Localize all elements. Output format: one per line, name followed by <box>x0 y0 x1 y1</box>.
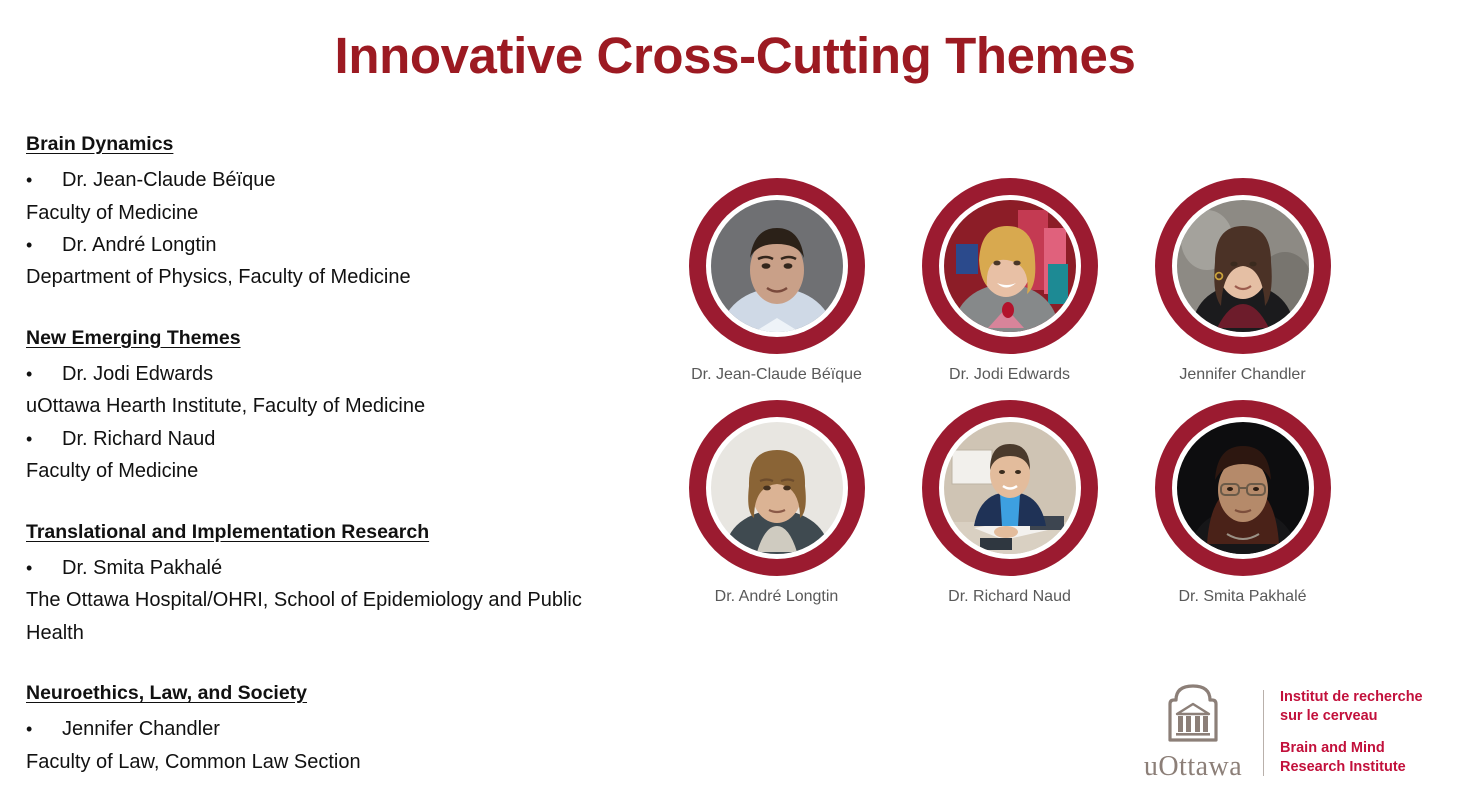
person-entry: • Dr. Smita Pakhalé <box>26 552 646 584</box>
person-name: Dr. Jean-Claude Béïque <box>62 164 275 196</box>
portrait-ring <box>1155 178 1331 354</box>
bullet-icon: • <box>26 166 62 195</box>
portrait-cell: Dr. Smita Pakhalé <box>1126 400 1359 606</box>
person-entry: • Dr. Jean-Claude Béïque <box>26 164 646 196</box>
portrait-jean-claude-beique <box>711 200 843 332</box>
portrait-inner-gap <box>939 417 1081 559</box>
person-affiliation: Faculty of Medicine <box>26 197 616 229</box>
theme-heading: Translational and Implementation Researc… <box>26 518 646 546</box>
portrait-smita-pakhale <box>1177 422 1309 554</box>
bullet-icon: • <box>26 425 62 454</box>
bullet-icon: • <box>26 554 62 583</box>
uottawa-wordmark: uOttawa <box>1144 751 1242 783</box>
portrait-inner-gap <box>706 195 848 337</box>
theme-block-translational-implementation-research: Translational and Implementation Researc… <box>26 518 646 649</box>
bullet-icon: • <box>26 231 62 260</box>
theme-heading: New Emerging Themes <box>26 324 646 352</box>
portrait-cell: Dr. Jean-Claude Béïque <box>660 178 893 384</box>
person-name: Dr. André Longtin <box>62 229 217 261</box>
institute-fr-line1: Institut de recherche <box>1280 688 1423 707</box>
portrait-cell: Dr. Richard Naud <box>893 400 1126 606</box>
person-name: Dr. Smita Pakhalé <box>62 552 222 584</box>
person-name: Dr. Richard Naud <box>62 423 215 455</box>
portrait-ring <box>1155 400 1331 576</box>
person-affiliation: uOttawa Hearth Institute, Faculty of Med… <box>26 390 616 422</box>
portrait-inner-gap <box>939 195 1081 337</box>
theme-block-brain-dynamics: Brain Dynamics • Dr. Jean-Claude Béïque … <box>26 130 646 294</box>
person-entry: • Dr. Jodi Edwards <box>26 358 646 390</box>
logo-divider <box>1263 690 1264 776</box>
portrait-inner-gap <box>1172 195 1314 337</box>
theme-block-neuroethics-law-society: Neuroethics, Law, and Society • Jennifer… <box>26 679 646 778</box>
portrait-row: Dr. Jean-Claude Béïque <box>660 178 1360 384</box>
person-entry: • Jennifer Chandler <box>26 713 646 745</box>
portrait-richard-naud <box>944 422 1076 554</box>
portrait-ring <box>922 178 1098 354</box>
bullet-icon: • <box>26 715 62 744</box>
institute-en-line2: Research Institute <box>1280 758 1423 777</box>
portrait-andre-longtin <box>711 422 843 554</box>
person-affiliation: Department of Physics, Faculty of Medici… <box>26 261 616 293</box>
presentation-slide: Innovative Cross-Cutting Themes Brain Dy… <box>0 0 1470 808</box>
portrait-cell: Jennifer Chandler <box>1126 178 1359 384</box>
person-affiliation: Faculty of Medicine <box>26 455 616 487</box>
bullet-icon: • <box>26 360 62 389</box>
theme-heading: Brain Dynamics <box>26 130 646 158</box>
person-entry: • Dr. André Longtin <box>26 229 646 261</box>
uottawa-shield-icon <box>1164 682 1222 749</box>
portrait-grid: Dr. Jean-Claude Béïque <box>660 178 1360 622</box>
portrait-caption: Dr. Smita Pakhalé <box>1178 588 1306 606</box>
page-title: Innovative Cross-Cutting Themes <box>0 26 1470 85</box>
themes-list: Brain Dynamics • Dr. Jean-Claude Béïque … <box>26 130 646 778</box>
uottawa-bmri-logo: uOttawa Institut de recherche sur le cer… <box>1133 682 1423 783</box>
institute-name-en: Brain and Mind Research Institute <box>1280 739 1423 778</box>
theme-heading: Neuroethics, Law, and Society <box>26 679 646 707</box>
portrait-cell: Dr. Jodi Edwards <box>893 178 1126 384</box>
person-affiliation: Faculty of Law, Common Law Section <box>26 746 616 778</box>
portrait-ring <box>689 400 865 576</box>
institute-name-fr: Institut de recherche sur le cerveau <box>1280 688 1423 727</box>
portrait-caption: Dr. Jodi Edwards <box>949 366 1070 384</box>
portrait-row: Dr. André Longtin <box>660 400 1360 606</box>
logo-mark-wrap: uOttawa <box>1133 682 1253 783</box>
portrait-cell: Dr. André Longtin <box>660 400 893 606</box>
portrait-inner-gap <box>706 417 848 559</box>
person-name: Jennifer Chandler <box>62 713 220 745</box>
portrait-caption: Dr. Jean-Claude Béïque <box>691 366 862 384</box>
portrait-caption: Dr. André Longtin <box>715 588 839 606</box>
theme-block-new-emerging-themes: New Emerging Themes • Dr. Jodi Edwards u… <box>26 324 646 488</box>
portrait-ring <box>922 400 1098 576</box>
portrait-jennifer-chandler <box>1177 200 1309 332</box>
person-name: Dr. Jodi Edwards <box>62 358 213 390</box>
portrait-caption: Jennifer Chandler <box>1179 366 1305 384</box>
portrait-caption: Dr. Richard Naud <box>948 588 1071 606</box>
portrait-ring <box>689 178 865 354</box>
portrait-jodi-edwards <box>944 200 1076 332</box>
institute-en-line1: Brain and Mind <box>1280 739 1423 758</box>
institute-name: Institut de recherche sur le cerveau Bra… <box>1280 688 1423 777</box>
portrait-inner-gap <box>1172 417 1314 559</box>
person-entry: • Dr. Richard Naud <box>26 423 646 455</box>
person-affiliation: The Ottawa Hospital/OHRI, School of Epid… <box>26 584 616 649</box>
institute-fr-line2: sur le cerveau <box>1280 707 1423 726</box>
